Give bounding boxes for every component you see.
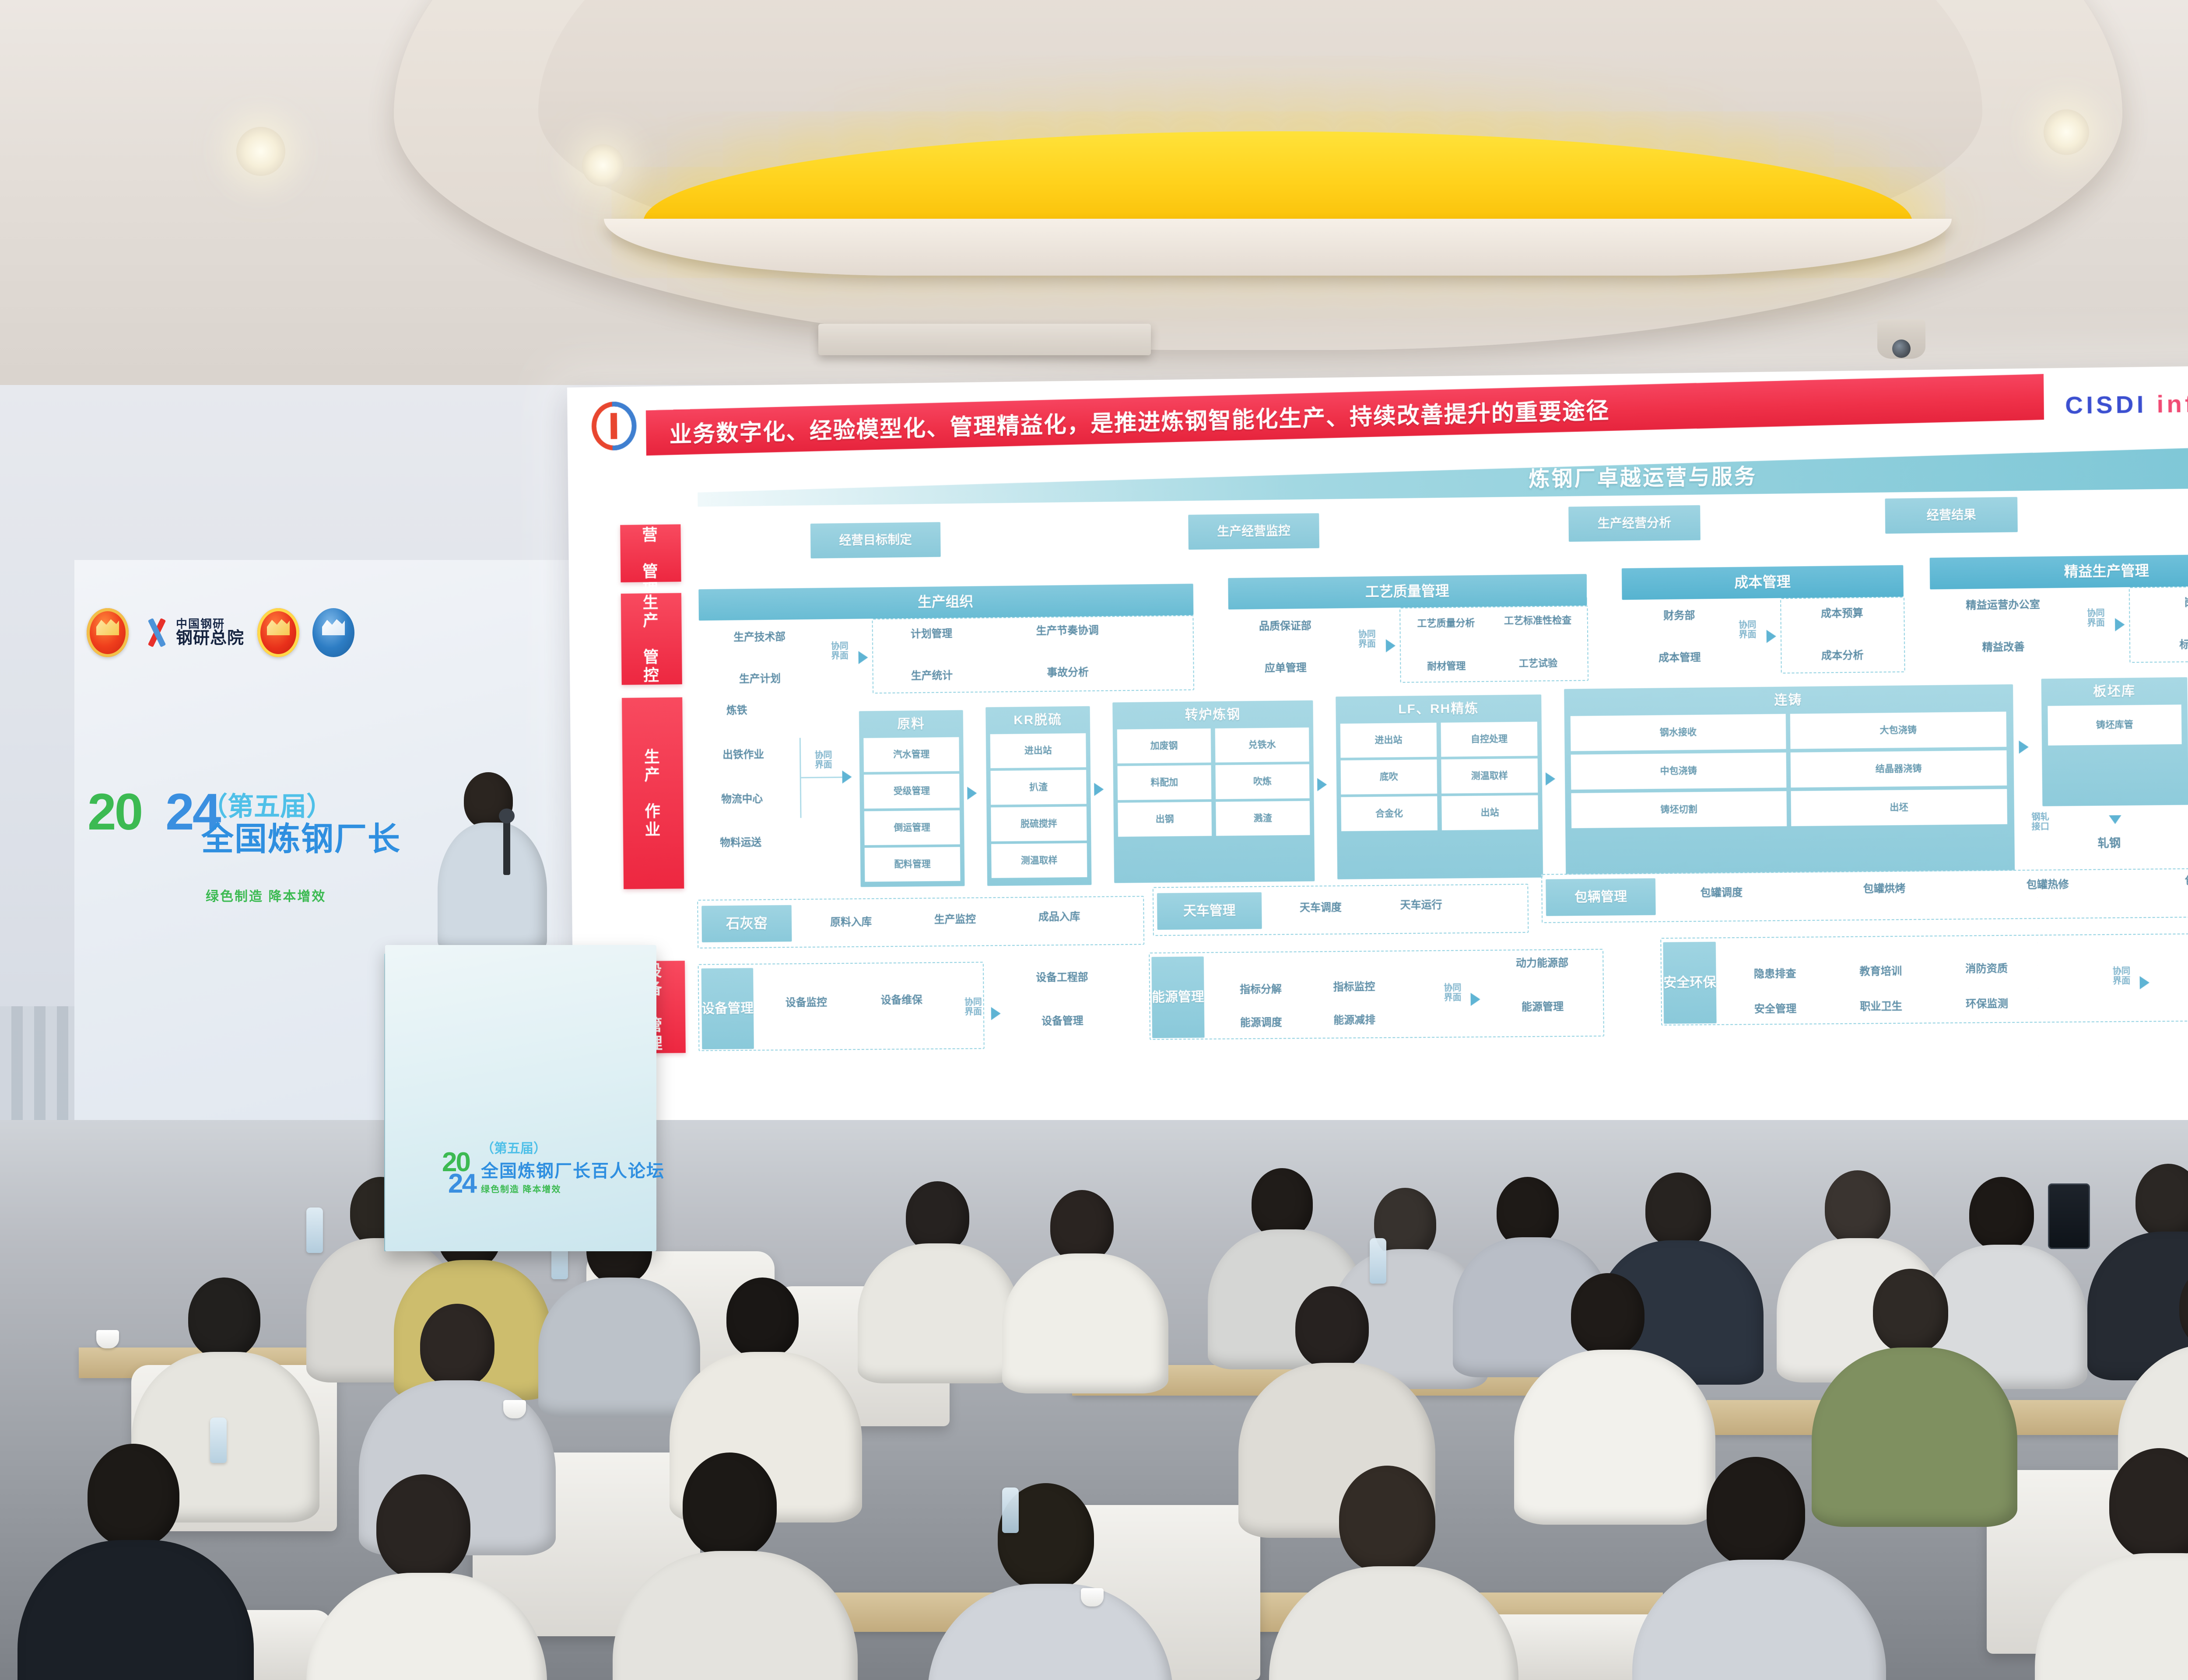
rolling-link-l2: 接口 (2031, 822, 2049, 832)
dept-energy-mgmt: 能源管理 (1481, 998, 1604, 1016)
attendee-head (1645, 1172, 1711, 1247)
gangyan-star-icon (142, 618, 172, 647)
leaf-ladle-0: 包罐调度 (1673, 883, 1770, 903)
cell-cc-5: 出坯 (1791, 789, 2007, 826)
cell-lf-5: 出站 (1441, 795, 1538, 830)
ceiling-camera (1877, 319, 1925, 359)
slide-title-band: 业务数字化、经验模型化、管理精益化，是推进炼钢智能化生产、持续改善提升的重要途径 (646, 374, 2044, 456)
coop-ops-l1: 协同 (815, 751, 832, 760)
year-top: 20 (88, 783, 141, 841)
attendee-body (18, 1540, 254, 1680)
rolling-link-l1: 钢轧 (2031, 812, 2049, 822)
coffee-cup (503, 1400, 526, 1418)
rail-0-l1: 经营 (638, 508, 663, 545)
dept-quality-assurance: 品质保证部 (1228, 617, 1342, 636)
arrow-slab-to-rolling-icon (2109, 815, 2121, 824)
attendee-head (683, 1452, 777, 1557)
backdrop-event-title: 全国炼钢厂长 (201, 821, 401, 857)
coop-interface-energy: 协同界面 (1433, 983, 1472, 1003)
presentation-slide: 业务数字化、经验模型化、管理精益化，是推进炼钢智能化生产、持续改善提升的重要途径… (567, 365, 2188, 1204)
leaf-lime-0: 原料入库 (806, 913, 897, 932)
dept-lean-office: 精益运营办公室 (1935, 596, 2072, 615)
coop-sf-l1: 协同 (2113, 966, 2131, 976)
dept-equipment-engineering: 设备工程部 (1001, 969, 1123, 987)
dept-material-transport: 物料运送 (693, 834, 789, 852)
coop-eq-l1: 协同 (964, 997, 982, 1007)
leaf-ladle-3: 包罐上下线 (2154, 871, 2188, 891)
cell-bof-2: 料配加 (1118, 765, 1212, 800)
cell-cc-2: 中包浇铸 (1571, 752, 1787, 790)
coop-interface-d: 协同界面 (2076, 609, 2116, 629)
coop-a-l1: 协同 (831, 641, 849, 651)
attendee-head (376, 1474, 470, 1579)
podium-year-bottom: 24 (448, 1173, 476, 1195)
leaf-safety-4: 环保监测 (1943, 994, 2031, 1014)
coop-ops-line-h (800, 777, 843, 778)
cell-kr-3: 测温取样 (991, 843, 1087, 878)
arrow-coop-d-icon (2115, 618, 2125, 631)
attendee-head (188, 1277, 260, 1358)
cell-cc-0: 钢水接收 (1571, 714, 1786, 751)
leaf-standardization: 标准化建设 (2133, 635, 2188, 655)
coop-ops-l2: 界面 (815, 760, 832, 770)
group-cost-management-header: 成本管理 (1622, 565, 1904, 600)
arrow-coop-safety-icon (2140, 976, 2150, 989)
water-bottle (210, 1417, 227, 1463)
info-word: info (2156, 389, 2188, 418)
dept-cost-management: 成本管理 (1631, 649, 1728, 667)
cell-kr-0: 进出站 (990, 733, 1086, 768)
cell-bof-3: 吹炼 (1215, 764, 1309, 799)
cove-lip (604, 219, 1952, 276)
podium (385, 945, 656, 1251)
attendee-head (1969, 1177, 2034, 1250)
chip-safety-environment: 安全环保 (1663, 942, 1716, 1024)
leaf-energy-0: 指标分解 (1217, 980, 1304, 999)
logo-beijing-metals-society-icon (312, 608, 354, 657)
rail-production-operations: 生产作业 (622, 697, 684, 889)
leaf-production-statistics: 生产统计 (877, 666, 986, 686)
coop-d-l2: 界面 (2087, 618, 2105, 628)
coop-b-l2: 界面 (1358, 640, 1376, 649)
cisdi-h-logo-icon (591, 401, 637, 451)
coop-d-l1: 协同 (2087, 609, 2105, 619)
arrow-coop-a-icon (859, 651, 868, 664)
process-continuous-casting: 连铸 钢水接收 大包浇铸 中包浇铸 结晶器浇铸 铸坯切割 出坯 (1564, 684, 2015, 875)
attendee-head (1295, 1286, 1369, 1368)
podium-branding: 20 24 （第五届） 全国炼钢厂长百人论坛 绿色制造 降本增效 (442, 1137, 665, 1195)
attendee-head (2135, 1164, 2188, 1238)
rail-1-l2: 管控 (639, 648, 664, 685)
water-bottle (306, 1207, 323, 1253)
leaf-safety-3: 职业卫生 (1837, 997, 1925, 1016)
coop-b-l1: 协同 (1358, 630, 1376, 639)
process-slab-yard: 板坯库 铸坯库管 (2041, 677, 2188, 806)
attendee-head (1339, 1466, 1435, 1573)
gangyan-line1: 中国钢研 (176, 618, 244, 630)
process-raw-material: 原料 汽水管理 受级管理 倒运管理 配料管理 (859, 710, 965, 887)
coop-en-l1: 协同 (1444, 983, 1461, 993)
attendee-head (1252, 1168, 1313, 1238)
leaf-crane-1: 天车运行 (1375, 896, 1467, 915)
rail-2-l2: 作业 (641, 802, 666, 839)
coop-en-l2: 界面 (1444, 993, 1462, 1003)
dept-tapping-operation: 出铁作业 (696, 746, 791, 764)
coop-interface-c: 协同界面 (1728, 620, 1767, 640)
leaf-ladle-2: 包罐热修 (1999, 875, 2097, 895)
arrow-coop-c-icon (1767, 630, 1776, 643)
rolling-link-label: 钢轧接口 (2020, 812, 2060, 833)
presenter-body (438, 822, 547, 954)
group-lean-production-header: 精益生产管理 (1930, 554, 2188, 590)
rail-production-control: 生产管控 (621, 593, 682, 685)
cell-rm-2: 倒运管理 (864, 810, 960, 845)
arrow-bof-to-lf-icon (1317, 778, 1327, 791)
chip-crane-management: 天车管理 (1157, 892, 1262, 930)
attendee-head (420, 1304, 494, 1387)
downlight-3 (2044, 109, 2089, 155)
cell-lf-4: 合金化 (1341, 796, 1438, 831)
leaf-energy-3: 能源减排 (1311, 1011, 1398, 1030)
leaf-crane-0: 天车调度 (1275, 898, 1367, 917)
cell-cc-4: 铸坯切割 (1571, 791, 1787, 828)
backdrop-title-left: （第五届） 全国炼钢厂长 (201, 792, 401, 857)
attendee-body (538, 1277, 700, 1417)
process-cc-title: 连铸 (1564, 684, 2013, 713)
cell-lf-0: 进出站 (1340, 723, 1437, 758)
cell-kr-2: 脱硫搅拌 (991, 806, 1087, 841)
attendee-body (858, 1243, 1020, 1383)
process-kr-desulfurization: KR脱硫 进出站 扒渣 脱硫搅拌 测温取样 (985, 706, 1091, 886)
leaf-safety-0: 隐患排查 (1731, 965, 1820, 984)
cell-rm-0: 汽水管理 (863, 737, 959, 772)
cell-lf-1: 自控处理 (1441, 722, 1538, 757)
leaf-cost-budget: 成本预算 (1784, 604, 1900, 623)
attendee-body (1002, 1253, 1168, 1393)
leaf-plan-management: 计划管理 (877, 624, 986, 644)
attendee-body (1632, 1560, 1886, 1680)
coop-interface-safety: 协同界面 (2101, 966, 2141, 987)
attendee-body (1514, 1350, 1715, 1525)
microphone (503, 818, 510, 875)
dept-finance: 财务部 (1631, 606, 1728, 625)
leaf-cost-analysis: 成本分析 (1784, 646, 1900, 665)
dept-equipment-mgmt: 设备管理 (1002, 1012, 1124, 1030)
slide-title: 业务数字化、经验模型化、管理精益化，是推进炼钢智能化生产、持续改善提升的重要途径 (646, 392, 1610, 449)
leaf-lime-1: 生产监控 (909, 910, 1001, 929)
dept-production-plan: 生产计划 (704, 670, 816, 688)
leaf-lime-2: 成品入库 (1013, 907, 1105, 927)
logo-sc-icon (257, 608, 299, 657)
podium-title: 全国炼钢厂长百人论坛 (481, 1157, 665, 1182)
attendee-head (1497, 1177, 1559, 1247)
podium-edition: （第五届） (481, 1137, 665, 1157)
leaf-ladle-1: 包罐烘烤 (1836, 879, 1933, 899)
chip-business-goal: 经营目标制定 (810, 522, 941, 558)
leaf-equip-0: 设备监控 (763, 994, 849, 1012)
leaf-safety-5: 安全管理 (1731, 1000, 1820, 1019)
coop-interface-a: 协同界面 (820, 641, 859, 661)
leaf-process-test: 工艺试验 (1491, 654, 1585, 673)
backdrop-edition: （第五届） (201, 792, 401, 821)
smartphone[interactable] (2048, 1183, 2090, 1249)
dept-logistics-center: 物流中心 (694, 790, 790, 808)
arrow-lf-to-cc-icon (1546, 772, 1555, 785)
leaf-safety-2: 消防资质 (1943, 959, 2031, 979)
cell-kr-1: 扒渣 (991, 770, 1087, 805)
cell-cc-3: 结晶器浇铸 (1791, 750, 2007, 787)
leaf-equip-1: 设备维保 (858, 991, 945, 1010)
leaf-accident-analysis: 事故分析 (1003, 663, 1133, 682)
process-converter-steelmaking: 转炉炼钢 加废钢 兑铁水 料配加 吹炼 出钢 溅渣 (1112, 700, 1315, 883)
leaf-energy-2: 能源调度 (1217, 1013, 1305, 1032)
backdrop-tagline-left: 绿色制造 降本增效 (206, 885, 326, 905)
water-bottle (1370, 1238, 1386, 1284)
cell-bof-5: 溅渣 (1216, 801, 1310, 836)
coop-interface-equip: 协同界面 (954, 997, 993, 1017)
leaf-quality-analysis: 工艺质量分析 (1402, 613, 1490, 633)
cell-bof-0: 加废钢 (1117, 728, 1211, 763)
arrow-coop-energy-icon (1471, 993, 1480, 1006)
cell-slab-0: 铸坯库管 (2048, 704, 2181, 745)
attendee-head (88, 1444, 179, 1547)
attendee-head (1571, 1273, 1645, 1355)
process-bof-title: 转炉炼钢 (1112, 700, 1313, 726)
leaf-standard-check: 工艺标准性检查 (1490, 611, 1585, 630)
chip-equipment-management: 设备管理 (701, 968, 754, 1050)
coffee-cup (1081, 1588, 1104, 1606)
arrow-rm-to-kr-icon (967, 787, 977, 800)
chip-energy-management: 能源管理 (1151, 956, 1204, 1038)
arrow-kr-to-bof-icon (1094, 783, 1104, 796)
chip-ladle-management: 包辆管理 (1546, 878, 1655, 916)
chip-production-monitor: 生产经营监控 (1188, 513, 1319, 549)
logo-china-metals-society-icon (87, 608, 129, 657)
podium-year: 20 24 (442, 1151, 476, 1195)
arrow-coop-equip-icon (991, 1007, 1001, 1020)
rail-2-l1: 生产 (641, 748, 665, 784)
ceiling (0, 0, 2188, 420)
cisdi-word: CISDI (2065, 390, 2157, 419)
leaf-rhythm-coordination: 生产节奏协调 (1002, 621, 1133, 641)
group-process-quality-header: 工艺质量管理 (1228, 574, 1587, 609)
attendee-body (1269, 1566, 1518, 1680)
attendee-body (1812, 1347, 2017, 1527)
downlight-2 (582, 144, 624, 186)
coop-sf-l2: 界面 (2113, 976, 2131, 986)
dept-power-energy: 动力能源部 (1481, 954, 1604, 973)
water-bottle (1002, 1487, 1019, 1533)
gangyan-line2: 钢研总院 (176, 630, 244, 647)
cell-cc-1: 大包浇铸 (1790, 712, 2007, 749)
cell-rm-1: 受级管理 (864, 774, 960, 809)
process-slab-title: 板坯库 (2041, 677, 2188, 703)
attendee-head (1050, 1190, 1114, 1262)
cell-bof-1: 兑铁水 (1215, 728, 1309, 763)
conference-photo: 中国钢研 钢研总院 20 24 （第五届） 全国炼钢厂长 绿色制造 降本增效 8… (0, 0, 2188, 1680)
rail-1-l1: 生产 (639, 593, 663, 630)
backdrop-year-left: 20 24 (88, 792, 219, 832)
cell-lf-2: 底吹 (1341, 759, 1438, 794)
dept-order-management: 应单管理 (1229, 659, 1343, 678)
microphone-head-icon (499, 808, 515, 823)
coop-c-l2: 界面 (1739, 630, 1756, 640)
podium-tagline: 绿色制造 降本增效 (481, 1182, 665, 1195)
dept-safety-env-mgmt: 安环管理 (2159, 981, 2188, 1000)
dept-production-tech: 生产技术部 (703, 628, 816, 647)
leaf-post-innovation: 岗位创新 (2132, 592, 2188, 612)
coop-c-l1: 协同 (1739, 620, 1756, 630)
chip-production-analysis: 生产经营分析 (1568, 505, 1701, 542)
dept-lean-improve: 精益改善 (1935, 638, 2072, 657)
cell-lf-3: 测温取样 (1441, 759, 1538, 794)
coop-eq-l2: 界面 (964, 1007, 982, 1017)
cell-bof-4: 出钢 (1118, 802, 1212, 837)
rail-business-management: 经营管理 (620, 524, 681, 582)
chip-lime-kiln: 石灰窑 (701, 905, 792, 942)
coop-interface-b: 协同界面 (1347, 630, 1387, 650)
sponsor-logo-row-left: 中国钢研 钢研总院 (87, 608, 354, 657)
leaf-energy-1: 指标监控 (1311, 978, 1398, 997)
leaf-refractory-management: 耐材管理 (1403, 657, 1490, 676)
attendee-head (906, 1181, 969, 1252)
dept-ironmaking: 炼铁 (698, 702, 776, 720)
process-kr-title: KR脱硫 (985, 706, 1090, 731)
process-lf-rh-refining: LF、RH精炼 进出站 自控处理 底吹 测温取样 合金化 出站 (1336, 694, 1543, 879)
projection-screen: 业务数字化、经验模型化、管理精益化，是推进炼钢智能化生产、持续改善提升的重要途径… (567, 365, 2188, 1204)
arrow-coop-b-icon (1386, 639, 1396, 652)
cell-rm-3: 配料管理 (865, 847, 961, 882)
arrow-cc-to-slab-icon (2019, 740, 2029, 753)
leaf-safety-1: 教育培训 (1837, 962, 1925, 981)
attendee-head (726, 1277, 799, 1358)
dept-safety-environment: 安全环保部 (2159, 937, 2188, 956)
slide-banner-label: 炼钢厂卓越运营与服务 (1529, 459, 1757, 492)
logo-gangyan-icon: 中国钢研 钢研总院 (142, 618, 244, 647)
chip-business-result: 经营结果 (1885, 497, 2018, 534)
coop-interface-ops: 协同界面 (804, 750, 843, 770)
process-raw-material-title: 原料 (859, 710, 963, 735)
attendee-head (1825, 1170, 1890, 1245)
projector-housing (818, 324, 1151, 355)
coffee-cup (96, 1330, 119, 1348)
downlight-1 (236, 127, 285, 176)
attendee-head (1873, 1269, 1948, 1353)
slide-header: 业务数字化、经验模型化、管理精益化，是推进炼钢智能化生产、持续改善提升的重要途径… (567, 377, 2188, 455)
arrow-coop-ops-icon (842, 770, 852, 784)
process-lf-title: LF、RH精炼 (1336, 694, 1541, 720)
coop-a-l2: 界面 (831, 651, 849, 661)
label-rolling-mill: 轧钢 (2069, 834, 2149, 853)
cisdi-info-logo: CISDI info (2065, 389, 2188, 420)
group-production-organization-header: 生产组织 (698, 584, 1193, 620)
audience-area (0, 1120, 2188, 1680)
attendee-head (1707, 1457, 1805, 1566)
